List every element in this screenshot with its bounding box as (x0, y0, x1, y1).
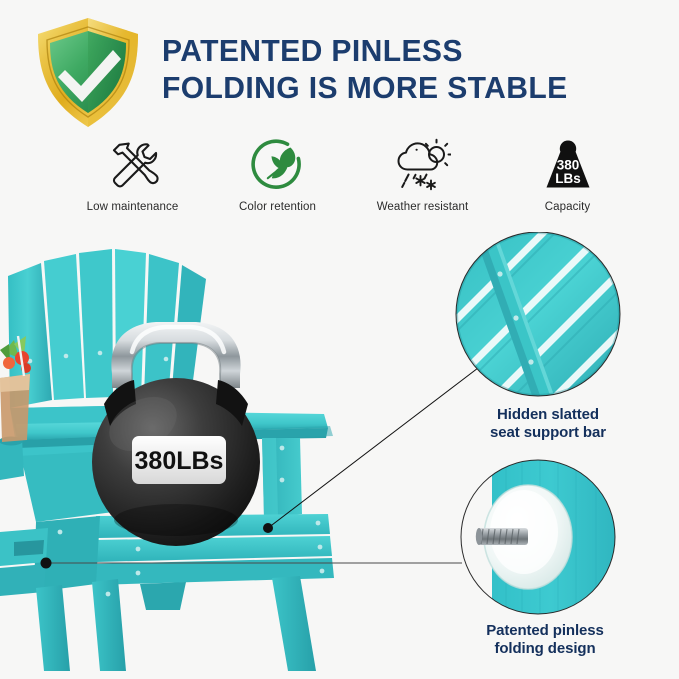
page-title: PATENTED PINLESS FOLDING IS MORE STABLE (162, 32, 662, 106)
feature-item-weather-resistant: Weather resistant (350, 136, 495, 226)
callout-1-label-line-1: Hidden slatted (448, 406, 648, 424)
header-banner: PATENTED PINLESS FOLDING IS MORE STABLE (0, 0, 679, 130)
callout-2-label-line-1: Patented pinless (440, 622, 650, 640)
title-line-1: PATENTED PINLESS (162, 32, 647, 69)
kettlebell-weight-badge: 380LBs (132, 436, 226, 484)
weight-capacity-icon: 380 LBs (541, 136, 595, 194)
feature-item-low-maintenance: Low maintenance (60, 136, 205, 226)
feature-strip: Low maintenance Color retention (60, 136, 640, 226)
callout-2-zoom-circle (461, 456, 622, 618)
callout-1-zoom-circle (400, 232, 670, 482)
callout-1-label: Hidden slatted seat support bar (448, 406, 648, 442)
leaf-circle-icon (251, 136, 305, 194)
product-scene: 380LBs (0, 232, 679, 679)
title-line-2: FOLDING IS MORE STABLE (162, 69, 647, 106)
feature-item-color-retention: Color retention (205, 136, 350, 226)
feature-label-capacity: Capacity (545, 201, 591, 213)
callout-2-label-line-2: folding design (440, 640, 650, 658)
feature-label-weather-resistant: Weather resistant (377, 201, 469, 213)
chair-cup-holder-left (0, 437, 24, 481)
callout-2-label: Patented pinless folding design (440, 622, 650, 658)
shield-check-icon (28, 14, 148, 132)
capacity-weight-unit: LBs (555, 171, 581, 186)
kettlebell-weight-text: 380LBs (135, 447, 224, 475)
chair-arm-support-right (262, 438, 302, 518)
cloud-sun-rain-snow-icon (395, 136, 451, 194)
tools-wrench-screwdriver-icon (106, 136, 160, 194)
feature-label-low-maintenance: Low maintenance (87, 201, 179, 213)
feature-item-capacity: 380 LBs Capacity (495, 136, 640, 226)
callout-1-label-line-2: seat support bar (448, 424, 648, 442)
infographic-root: PATENTED PINLESS FOLDING IS MORE STABLE … (0, 0, 679, 679)
feature-label-color-retention: Color retention (239, 201, 316, 213)
threaded-bolt (476, 528, 528, 545)
